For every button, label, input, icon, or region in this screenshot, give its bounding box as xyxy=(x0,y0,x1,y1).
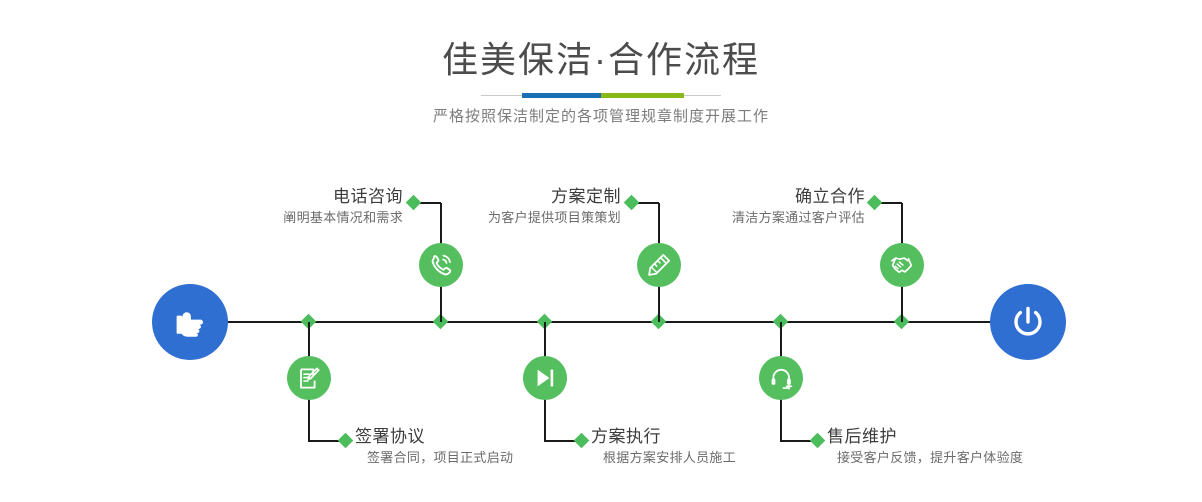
flow-diagram-page: 佳美保洁·合作流程 严格按照保洁制定的各项管理规章制度开展工作 xyxy=(0,0,1202,502)
document-edit-icon xyxy=(297,366,322,391)
power-icon xyxy=(1007,301,1049,343)
step-3-node[interactable] xyxy=(637,243,681,287)
step-3-label: 方案定制 为客户提供项目策策划 xyxy=(346,186,621,228)
step-6-title: 确立合作 xyxy=(590,186,865,208)
step-5-label: 售后维护 接受客户反馈，提升客户体验度 xyxy=(827,426,1157,468)
step-3-title: 方案定制 xyxy=(346,186,621,208)
step-6-desc: 清洁方案通过客户评估 xyxy=(590,208,865,228)
step-5-title: 售后维护 xyxy=(827,426,1157,448)
step-6-node[interactable] xyxy=(880,243,924,287)
step-5-node[interactable] xyxy=(759,356,803,400)
page-subtitle: 严格按照保洁制定的各项管理规章制度开展工作 xyxy=(0,106,1202,128)
title-divider xyxy=(481,93,721,98)
pencil-ruler-icon xyxy=(646,252,672,278)
step-1-node[interactable] xyxy=(419,243,463,287)
page-title: 佳美保洁·合作流程 xyxy=(0,38,1202,82)
step-6-label: 确立合作 清洁方案通过客户评估 xyxy=(590,186,865,228)
step-4-node[interactable] xyxy=(523,356,567,400)
step-5-desc: 接受客户反馈，提升客户体验度 xyxy=(827,448,1157,468)
divider-blue-segment xyxy=(522,93,601,98)
step-6-label-marker xyxy=(867,195,883,211)
play-next-icon xyxy=(533,366,557,390)
divider-green-segment xyxy=(601,93,684,98)
timeline-end-endpoint xyxy=(990,284,1066,360)
step-3-desc: 为客户提供项目策策划 xyxy=(346,208,621,228)
pointing-hand-icon xyxy=(170,302,210,342)
timeline-start-endpoint xyxy=(152,284,228,360)
step-2-node[interactable] xyxy=(287,356,331,400)
headset-support-icon xyxy=(769,366,794,391)
phone-call-icon xyxy=(428,252,454,278)
handshake-icon xyxy=(889,252,915,278)
step-2-label-marker xyxy=(338,433,354,449)
